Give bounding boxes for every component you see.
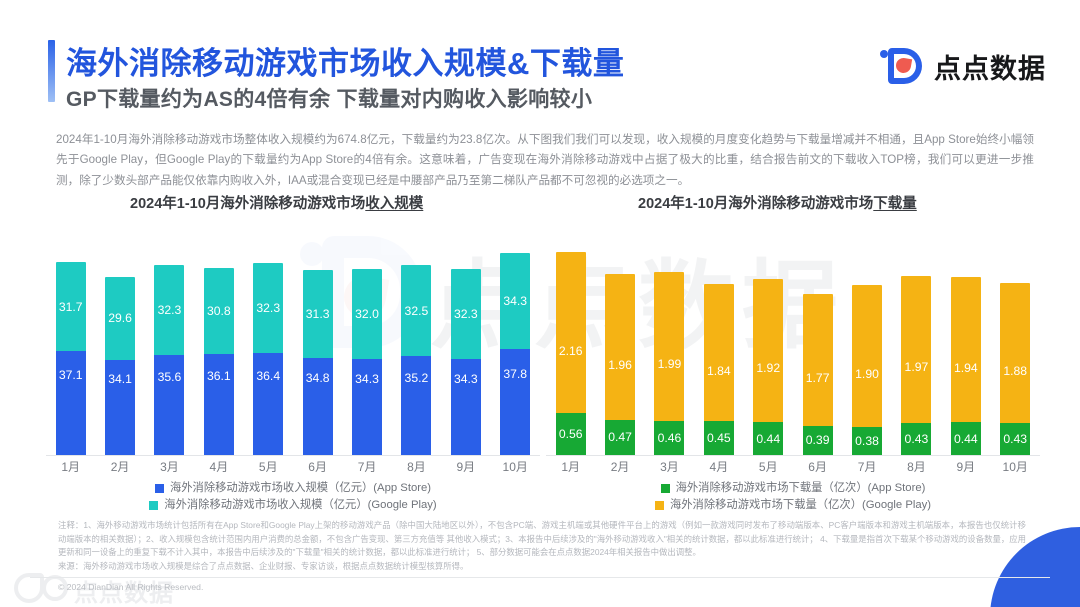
bar-value-label: 32.5 [405, 304, 429, 318]
bar-value-label: 0.43 [905, 432, 929, 446]
bar-value-label: 32.0 [355, 307, 379, 321]
bar-segment-upper: 32.0 [352, 269, 382, 359]
bar-column: 32.034.3 [348, 232, 386, 455]
bar-segment-upper: 31.7 [56, 262, 86, 351]
bar-column: 32.535.2 [397, 232, 435, 455]
legend-label: 海外消除移动游戏市场收入规模（亿元）(App Store) [170, 480, 431, 497]
legend-swatch-icon [655, 501, 664, 510]
legend-swatch-icon [661, 484, 670, 493]
bar-segment-lower: 0.44 [753, 422, 783, 455]
bar-segment-upper: 29.6 [105, 277, 135, 360]
bar-column: 1.770.39 [799, 232, 837, 455]
bar-segment-lower: 0.43 [901, 423, 931, 455]
charts-container: 2024年1-10月海外消除移动游戏市场收入规模 31.737.129.634.… [0, 192, 1080, 522]
x-axis-label: 4月 [700, 458, 738, 475]
revenue-chart-legend: 海外消除移动游戏市场收入规模（亿元）(App Store)海外消除移动游戏市场收… [46, 480, 540, 514]
bar-value-label: 34.1 [108, 372, 132, 386]
bar-column: 29.634.1 [101, 232, 139, 455]
legend-item[interactable]: 海外消除移动游戏市场收入规模（亿元）(App Store) [46, 480, 540, 497]
bar-value-label: 0.46 [658, 431, 682, 445]
bar-value-label: 1.97 [905, 360, 929, 374]
bar-segment-upper: 1.94 [951, 277, 981, 422]
bar-segment-lower: 0.45 [704, 421, 734, 455]
legend-item[interactable]: 海外消除移动游戏市场收入规模（亿元）(Google Play) [46, 497, 540, 514]
bar-segment-upper: 2.16 [556, 252, 586, 413]
bar-column: 1.900.38 [848, 232, 886, 455]
downloads-chart-title: 2024年1-10月海外消除移动游戏市场下载量 [638, 192, 1040, 213]
legend-label: 海外消除移动游戏市场下载量（亿次）(Google Play) [670, 497, 931, 514]
bar-value-label: 34.3 [503, 294, 527, 308]
bar-column: 34.337.8 [496, 232, 534, 455]
bar-segment-lower: 0.39 [803, 426, 833, 455]
x-axis-label: 7月 [848, 458, 886, 475]
bar-value-label: 29.6 [108, 311, 132, 325]
bar-segment-lower: 34.3 [352, 359, 382, 455]
x-axis-label: 4月 [200, 458, 238, 475]
x-axis-label: 2月 [101, 458, 139, 475]
bar-column: 1.990.46 [650, 232, 688, 455]
downloads-chart: 2024年1-10月海外消除移动游戏市场下载量 2.160.561.960.47… [540, 192, 1040, 522]
x-axis-label: 10月 [996, 458, 1034, 475]
bar-segment-upper: 1.99 [654, 272, 684, 421]
bar-segment-upper: 1.97 [901, 276, 931, 423]
bar-value-label: 37.8 [503, 367, 527, 381]
bar-segment-upper: 1.84 [704, 284, 734, 421]
legend-label: 海外消除移动游戏市场收入规模（亿元）(Google Play) [164, 497, 436, 514]
bar-value-label: 34.3 [355, 372, 379, 386]
bar-column: 1.970.43 [897, 232, 935, 455]
title-accent-bar [48, 40, 55, 102]
x-axis-label: 9月 [447, 458, 485, 475]
bar-value-label: 2.16 [559, 344, 583, 358]
bar-segment-lower: 36.4 [253, 353, 283, 455]
revenue-chart-xaxis: 1月2月3月4月5月6月7月8月9月10月 [46, 458, 540, 475]
bar-segment-upper: 1.88 [1000, 283, 1030, 423]
revenue-chart-title: 2024年1-10月海外消除移动游戏市场收入规模 [130, 192, 540, 213]
bar-column: 30.836.1 [200, 232, 238, 455]
bar-value-label: 31.7 [59, 300, 83, 314]
bar-segment-upper: 32.3 [451, 269, 481, 359]
bar-segment-lower: 0.38 [852, 427, 882, 455]
bar-value-label: 1.96 [608, 358, 632, 372]
bar-column: 31.334.8 [299, 232, 337, 455]
bar-column: 32.334.3 [447, 232, 485, 455]
legend-item[interactable]: 海外消除移动游戏市场下载量（亿次）(Google Play) [546, 497, 1040, 514]
bar-column: 1.940.44 [947, 232, 985, 455]
bar-segment-lower: 34.1 [105, 360, 135, 455]
x-axis-label: 9月 [947, 458, 985, 475]
bar-value-label: 1.88 [1003, 364, 1027, 378]
bar-segment-lower: 37.1 [56, 351, 86, 455]
bar-value-label: 34.8 [306, 371, 330, 385]
x-axis-label: 2月 [601, 458, 639, 475]
bar-value-label: 34.3 [454, 372, 478, 386]
bar-segment-upper: 1.77 [803, 294, 833, 426]
bar-segment-upper: 1.90 [852, 285, 882, 427]
footer-divider [30, 577, 1050, 578]
page-subtitle: GP下载量约为AS的4倍有余 下载量对内购收入影响较小 [66, 83, 592, 113]
x-axis-label: 10月 [496, 458, 534, 475]
bar-value-label: 0.56 [559, 427, 583, 441]
x-axis-label: 8月 [897, 458, 935, 475]
intro-paragraph: 2024年1-10月海外消除移动游戏市场整体收入规模约为674.8亿元，下载量约… [56, 130, 1034, 191]
bar-segment-lower: 0.46 [654, 421, 684, 455]
bar-value-label: 1.90 [855, 367, 879, 381]
revenue-chart: 2024年1-10月海外消除移动游戏市场收入规模 31.737.129.634.… [40, 192, 540, 522]
bar-segment-lower: 34.8 [303, 358, 333, 455]
bar-value-label: 0.43 [1003, 432, 1027, 446]
x-axis-label: 6月 [799, 458, 837, 475]
bar-column: 1.960.47 [601, 232, 639, 455]
bar-value-label: 32.3 [256, 301, 280, 315]
bar-column: 1.840.45 [700, 232, 738, 455]
x-axis-label: 1月 [52, 458, 90, 475]
legend-label: 海外消除移动游戏市场下载量（亿次）(App Store) [676, 480, 926, 497]
bar-segment-lower: 0.56 [556, 413, 586, 455]
bar-segment-upper: 34.3 [500, 253, 530, 349]
bar-value-label: 35.2 [405, 371, 429, 385]
bar-segment-lower: 0.47 [605, 420, 635, 455]
bar-segment-upper: 31.3 [303, 270, 333, 358]
bar-value-label: 35.6 [158, 370, 182, 384]
bar-segment-upper: 32.3 [154, 265, 184, 355]
bar-value-label: 1.92 [756, 361, 780, 375]
bar-value-label: 30.8 [207, 304, 231, 318]
brand-name: 点点数据 [934, 47, 1046, 86]
x-axis-label: 7月 [348, 458, 386, 475]
bar-value-label: 36.1 [207, 369, 231, 383]
bar-column: 32.336.4 [249, 232, 287, 455]
bar-segment-upper: 1.92 [753, 279, 783, 422]
footnote-text: 注释：1、海外移动游戏市场统计包括所有在App Store和Google Pla… [58, 519, 1026, 560]
bar-column: 31.737.1 [52, 232, 90, 455]
downloads-chart-xaxis: 1月2月3月4月5月6月7月8月9月10月 [546, 458, 1040, 475]
bar-value-label: 1.77 [806, 371, 830, 385]
bar-segment-lower: 0.43 [1000, 423, 1030, 455]
brand-logo: 点点数据 [880, 46, 1046, 86]
bar-column: 2.160.56 [552, 232, 590, 455]
bar-value-label: 0.45 [707, 431, 731, 445]
bar-value-label: 1.94 [954, 361, 978, 375]
legend-swatch-icon [155, 484, 164, 493]
bar-segment-lower: 0.44 [951, 422, 981, 455]
bar-value-label: 37.1 [59, 368, 83, 382]
bar-segment-upper: 1.96 [605, 274, 635, 420]
downloads-chart-legend: 海外消除移动游戏市场下载量（亿次）(App Store)海外消除移动游戏市场下载… [546, 480, 1040, 514]
copyright-text: © 2024 DianDian All Rights Reserved. [58, 582, 203, 592]
diandian-d-logo-icon [880, 46, 924, 86]
downloads-chart-plot: 2.160.561.960.471.990.461.840.451.920.44… [546, 232, 1040, 456]
legend-swatch-icon [149, 501, 158, 510]
source-text: 来源：海外移动游戏市场收入规模是综合了点点数据、企业财报、专家访谈，根据点点数据… [58, 560, 1026, 573]
legend-item[interactable]: 海外消除移动游戏市场下载量（亿次）(App Store) [546, 480, 1040, 497]
revenue-chart-plot: 31.737.129.634.132.335.630.836.132.336.4… [46, 232, 540, 456]
bar-value-label: 0.39 [806, 433, 830, 447]
bar-segment-upper: 30.8 [204, 268, 234, 354]
bar-value-label: 36.4 [256, 369, 280, 383]
slide-page: 点点数据 海外消除移动游戏市场收入规模&下载量 GP下载量约为AS的4倍有余 下… [0, 0, 1080, 607]
x-axis-label: 3月 [150, 458, 188, 475]
bar-value-label: 0.38 [855, 434, 879, 448]
bar-value-label: 1.84 [707, 364, 731, 378]
x-axis-label: 5月 [249, 458, 287, 475]
bar-value-label: 0.44 [756, 432, 780, 446]
x-axis-label: 3月 [650, 458, 688, 475]
bar-value-label: 32.3 [158, 303, 182, 317]
bar-value-label: 0.47 [608, 430, 632, 444]
page-title: 海外消除移动游戏市场收入规模&下载量 [66, 38, 624, 83]
x-axis-label: 6月 [299, 458, 337, 475]
bar-column: 1.920.44 [749, 232, 787, 455]
x-axis-label: 8月 [397, 458, 435, 475]
bar-column: 32.335.6 [150, 232, 188, 455]
bar-segment-lower: 35.2 [401, 356, 431, 455]
bar-segment-lower: 34.3 [451, 359, 481, 455]
bar-value-label: 0.44 [954, 432, 978, 446]
bar-value-label: 1.99 [658, 357, 682, 371]
page-header: 海外消除移动游戏市场收入规模&下载量 GP下载量约为AS的4倍有余 下载量对内购… [0, 0, 1080, 122]
bar-value-label: 31.3 [306, 307, 330, 321]
bar-segment-lower: 36.1 [204, 354, 234, 455]
bar-column: 1.880.43 [996, 232, 1034, 455]
x-axis-label: 5月 [749, 458, 787, 475]
bar-segment-upper: 32.5 [401, 265, 431, 356]
bar-value-label: 32.3 [454, 307, 478, 321]
bar-segment-upper: 32.3 [253, 263, 283, 353]
x-axis-label: 1月 [552, 458, 590, 475]
bar-segment-lower: 35.6 [154, 355, 184, 455]
bar-segment-lower: 37.8 [500, 349, 530, 455]
